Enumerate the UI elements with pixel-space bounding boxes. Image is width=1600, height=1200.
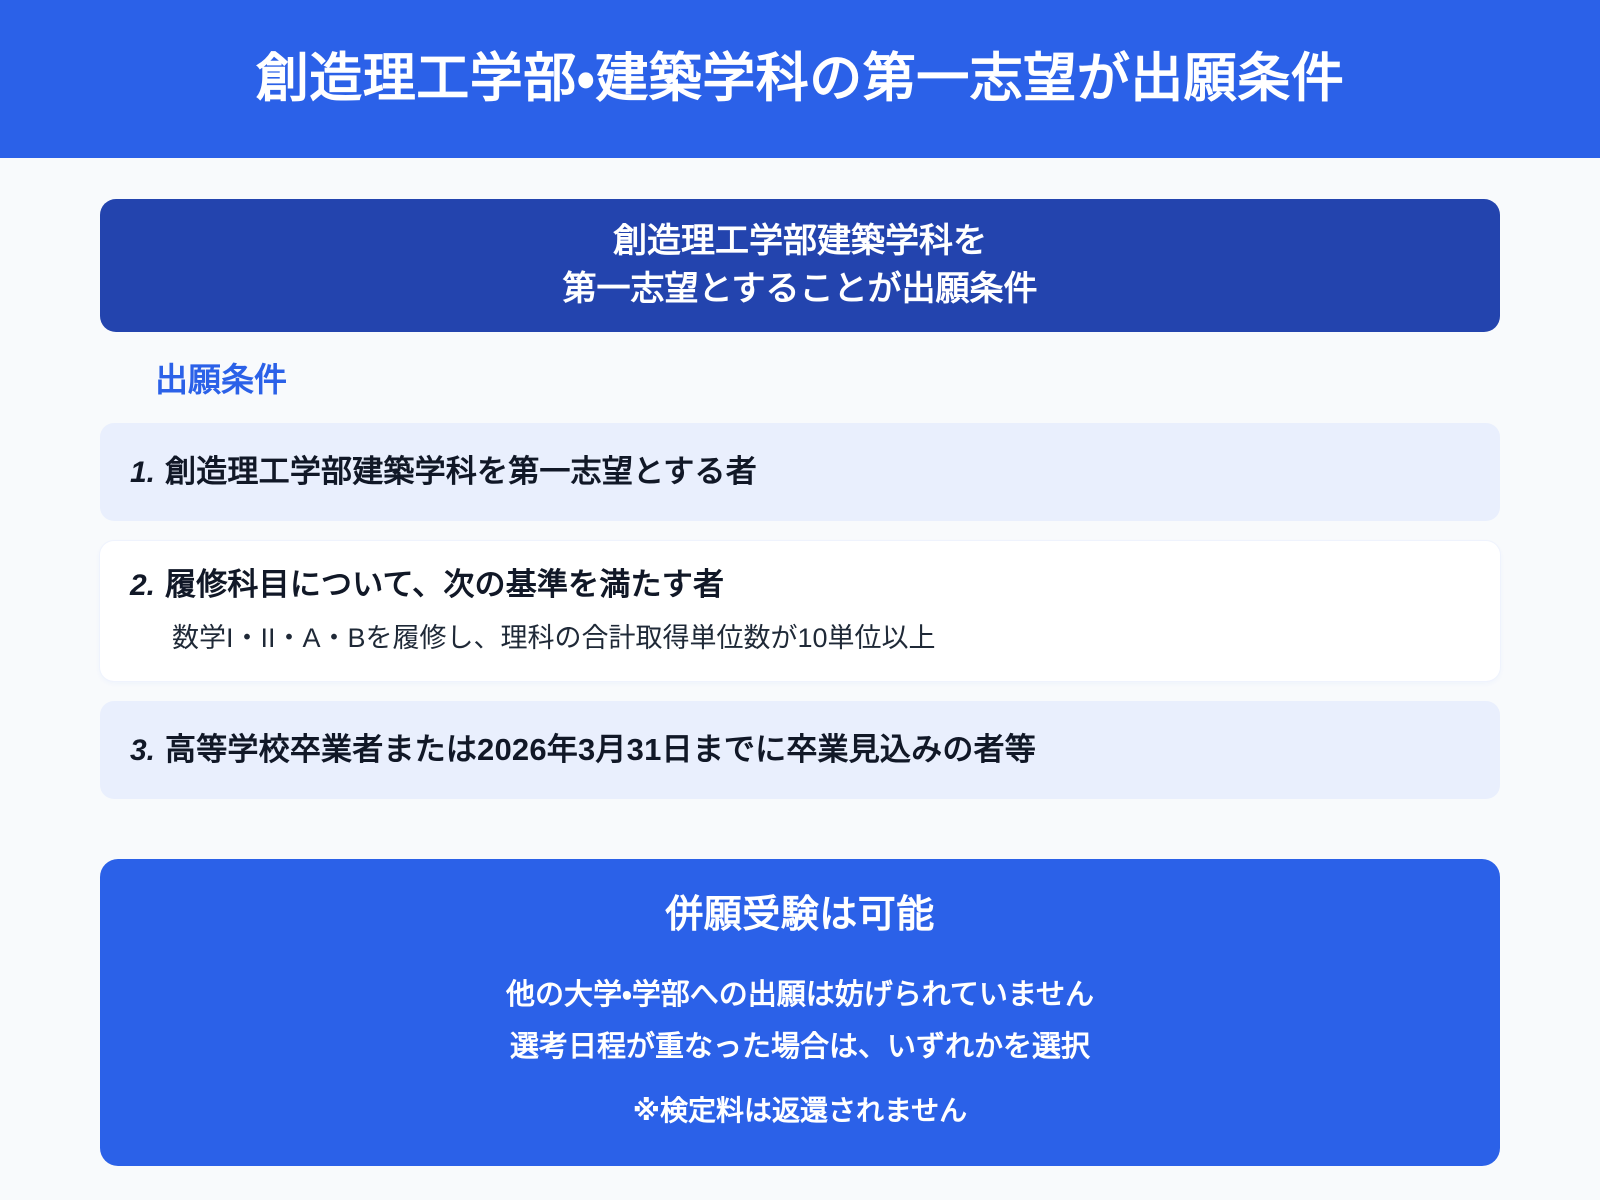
list-item: 2. 履修科目について、次の基準を満たす者 数学I・II・A・Bを履修し、理科の… xyxy=(100,541,1500,681)
list-item: 3. 高等学校卒業者または2026年3月31日までに卒業見込みの者等 xyxy=(100,701,1500,799)
statement-line-1: 創造理工学部建築学科を xyxy=(613,217,987,265)
note-card-concurrent-application: 併願受験は可能 他の大学・学部への出願は妨げられていません 選考日程が重なった場… xyxy=(100,859,1500,1166)
page-root: 創造理工学部・建築学科の第一志望が出願条件 創造理工学部建築学科を 第一志望とす… xyxy=(0,0,1600,1200)
requirement-number: 1. xyxy=(130,454,155,492)
section-heading-requirements: 出願条件 xyxy=(155,360,1500,400)
note-line-2: 選考日程が重なった場合は、いずれかを選択 xyxy=(510,1029,1090,1065)
note-card-body: 他の大学・学部への出願は妨げられていません 選考日程が重なった場合は、いずれかを… xyxy=(506,977,1094,1129)
requirement-text: 創造理工学部建築学科を第一志望とする者 xyxy=(165,453,757,492)
requirement-main-line: 2. 履修科目について、次の基準を満たす者 xyxy=(130,566,1472,605)
note-card-title: 併願受験は可能 xyxy=(665,893,935,939)
requirement-main-line: 1. 創造理工学部建築学科を第一志望とする者 xyxy=(130,453,1472,492)
requirement-number: 2. xyxy=(130,567,155,605)
content-area: 創造理工学部建築学科を 第一志望とすることが出願条件 出願条件 1. 創造理工学… xyxy=(0,158,1600,1200)
statement-box: 創造理工学部建築学科を 第一志望とすることが出願条件 xyxy=(100,199,1500,332)
requirement-text: 高等学校卒業者または2026年3月31日までに卒業見込みの者等 xyxy=(165,731,1036,770)
header-banner: 創造理工学部・建築学科の第一志望が出願条件 xyxy=(0,0,1600,158)
requirement-subtext: 数学I・II・A・Bを履修し、理科の合計取得単位数が10単位以上 xyxy=(172,621,1472,656)
note-line-3: ※検定料は返還されません xyxy=(633,1093,967,1128)
note-line-1: 他の大学・学部への出願は妨げられていません xyxy=(506,977,1094,1013)
list-item: 1. 創造理工学部建築学科を第一志望とする者 xyxy=(100,423,1500,521)
page-title: 創造理工学部・建築学科の第一志望が出願条件 xyxy=(256,50,1345,108)
requirements-list: 1. 創造理工学部建築学科を第一志望とする者 2. 履修科目について、次の基準を… xyxy=(100,423,1500,799)
statement-line-2: 第一志望とすることが出願条件 xyxy=(563,265,1038,313)
requirement-main-line: 3. 高等学校卒業者または2026年3月31日までに卒業見込みの者等 xyxy=(130,731,1472,770)
requirement-text: 履修科目について、次の基準を満たす者 xyxy=(165,566,724,605)
requirement-number: 3. xyxy=(130,732,155,770)
